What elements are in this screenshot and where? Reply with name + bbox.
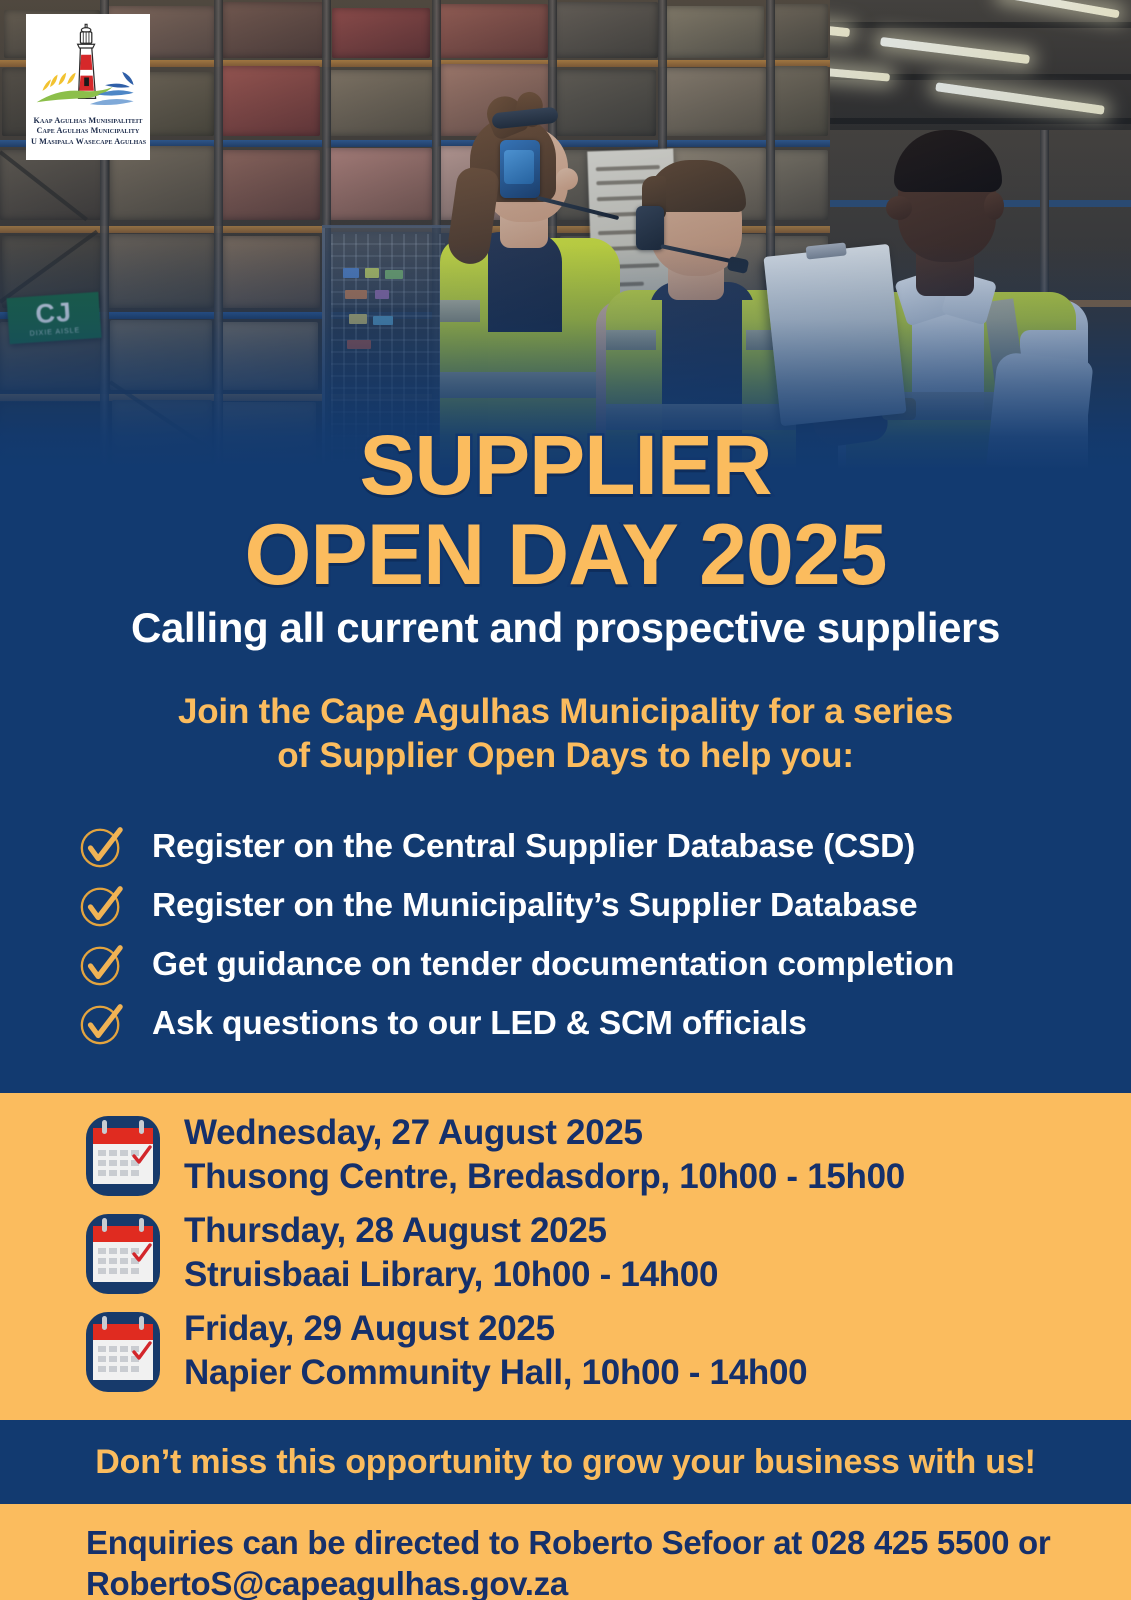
logo-line-af: Kaap Agulhas Munisipaliteit bbox=[31, 116, 145, 126]
enquiries-line-1: Enquiries can be directed to Roberto Sef… bbox=[86, 1522, 1091, 1563]
poster-title: SUPPLIER OPEN DAY 2025 bbox=[0, 424, 1131, 596]
title-line-1: SUPPLIER bbox=[0, 424, 1131, 506]
call-to-action-banner: Don’t miss this opportunity to grow your… bbox=[0, 1420, 1131, 1504]
event-date-row: Friday, 29 August 2025 Napier Community … bbox=[84, 1307, 1131, 1395]
event-venue-time: Struisbaai Library, 10h00 - 14h00 bbox=[184, 1253, 718, 1297]
lighthouse-logo-icon bbox=[31, 20, 145, 116]
checklist-item: Get guidance on tender documentation com… bbox=[78, 942, 1078, 988]
event-day-date: Thursday, 28 August 2025 bbox=[184, 1209, 718, 1253]
event-day-date: Friday, 29 August 2025 bbox=[184, 1307, 807, 1351]
photo-fade bbox=[0, 0, 1131, 470]
logo-text: Kaap Agulhas Munisipaliteit Cape Agulhas… bbox=[31, 116, 145, 147]
check-circle-icon bbox=[78, 942, 124, 988]
event-date-text: Wednesday, 27 August 2025 Thusong Centre… bbox=[184, 1111, 905, 1199]
photo-scene: CJ DIXIE AISLE bbox=[0, 0, 1131, 470]
checklist-item-label: Get guidance on tender documentation com… bbox=[152, 945, 954, 985]
benefits-checklist: Register on the Central Supplier Databas… bbox=[78, 824, 1078, 1060]
calendar-icon bbox=[84, 1210, 162, 1296]
check-circle-icon bbox=[78, 883, 124, 929]
lead-line-1: Join the Cape Agulhas Municipality for a… bbox=[0, 690, 1131, 734]
event-date-text: Thursday, 28 August 2025 Struisbaai Libr… bbox=[184, 1209, 718, 1297]
event-date-row: Wednesday, 27 August 2025 Thusong Centre… bbox=[84, 1111, 1131, 1199]
checklist-item: Ask questions to our LED & SCM officials bbox=[78, 1001, 1078, 1047]
logo-line-en: Cape Agulhas Municipality bbox=[31, 126, 145, 136]
event-day-date: Wednesday, 27 August 2025 bbox=[184, 1111, 905, 1155]
checklist-item-label: Register on the Central Supplier Databas… bbox=[152, 827, 915, 867]
event-venue-time: Napier Community Hall, 10h00 - 14h00 bbox=[184, 1351, 807, 1395]
checklist-item-label: Ask questions to our LED & SCM officials bbox=[152, 1004, 807, 1044]
event-date-text: Friday, 29 August 2025 Napier Community … bbox=[184, 1307, 807, 1395]
poster: CJ DIXIE AISLE bbox=[0, 0, 1131, 1600]
check-circle-icon bbox=[78, 824, 124, 870]
event-dates-panel: Wednesday, 27 August 2025 Thusong Centre… bbox=[0, 1093, 1131, 1420]
checklist-item: Register on the Central Supplier Databas… bbox=[78, 824, 1078, 870]
call-to-action-text: Don’t miss this opportunity to grow your… bbox=[95, 1443, 1035, 1482]
calendar-icon bbox=[84, 1308, 162, 1394]
event-date-row: Thursday, 28 August 2025 Struisbaai Libr… bbox=[84, 1209, 1131, 1297]
enquiries-panel: Enquiries can be directed to Roberto Sef… bbox=[0, 1504, 1131, 1600]
municipality-logo: Kaap Agulhas Munisipaliteit Cape Agulhas… bbox=[26, 14, 150, 160]
title-line-2: OPEN DAY 2025 bbox=[0, 514, 1131, 596]
check-circle-icon bbox=[78, 1001, 124, 1047]
lead-line-2: of Supplier Open Days to help you: bbox=[0, 734, 1131, 778]
checklist-item: Register on the Municipality’s Supplier … bbox=[78, 883, 1078, 929]
calendar-icon bbox=[84, 1112, 162, 1198]
logo-line-xh: U Masipala Wasecape Agulhas bbox=[31, 137, 145, 147]
event-venue-time: Thusong Centre, Bredasdorp, 10h00 - 15h0… bbox=[184, 1155, 905, 1199]
warehouse-photo: CJ DIXIE AISLE bbox=[0, 0, 1131, 470]
poster-subtitle: Calling all current and prospective supp… bbox=[0, 604, 1131, 652]
enquiries-line-2: RobertoS@capeagulhas.gov.za bbox=[86, 1563, 1091, 1600]
checklist-item-label: Register on the Municipality’s Supplier … bbox=[152, 886, 917, 926]
poster-lead: Join the Cape Agulhas Municipality for a… bbox=[0, 690, 1131, 778]
